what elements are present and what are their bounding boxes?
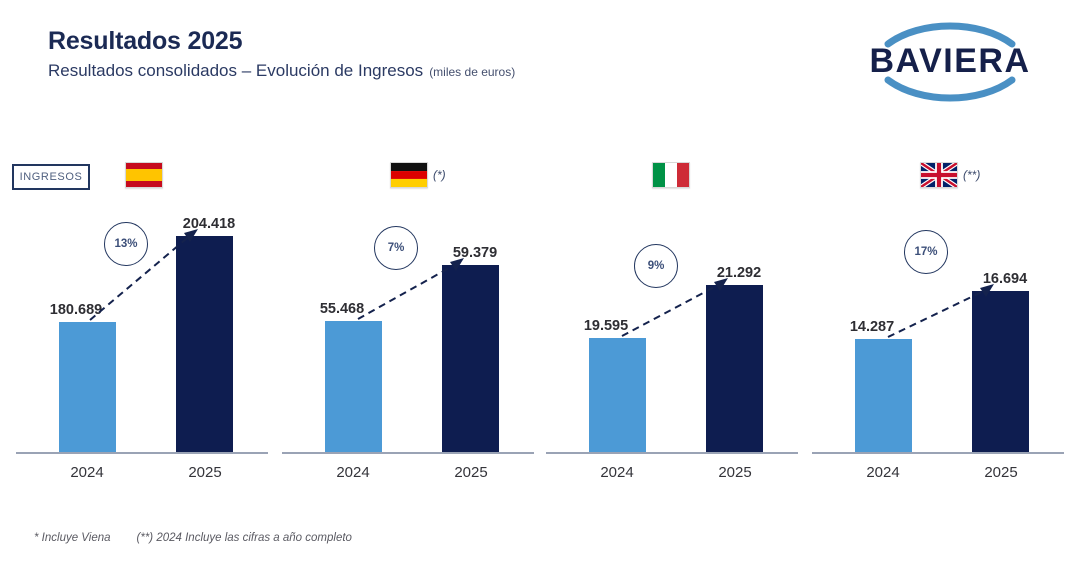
- growth-badge: 17%: [904, 230, 948, 274]
- x-axis-labels: 2024 2025: [282, 464, 534, 488]
- x-axis-labels: 2024 2025: [546, 464, 798, 488]
- x-label-2024: 2024: [600, 464, 633, 481]
- page-header: Resultados 2025 Resultados consolidados …: [48, 28, 515, 81]
- growth-badge: 13%: [104, 222, 148, 266]
- bar-2025: [442, 265, 499, 452]
- footnotes: * Incluye Viena (**) 2024 Incluye las ci…: [34, 532, 352, 544]
- bar-value-2025: 59.379: [453, 245, 497, 261]
- axis-line: [16, 452, 268, 454]
- chart-group-spain: 180.689 204.418 13% 2024 2025: [16, 206, 278, 496]
- bar-value-2024: 14.287: [850, 319, 894, 335]
- axis-line: [546, 452, 798, 454]
- bar-value-2025: 204.418: [183, 216, 235, 232]
- footnote-2: (**) 2024 Incluye las cifras a año compl…: [137, 532, 352, 544]
- flag-slot-uk: (**): [920, 162, 980, 188]
- bar-value-2025: 16.694: [983, 271, 1027, 287]
- chart-area: 180.689 204.418 13% 2024 2025 55.468 59.…: [0, 206, 1080, 496]
- x-label-2025: 2025: [454, 464, 487, 481]
- x-axis-labels: 2024 2025: [16, 464, 268, 488]
- bar-2025: [706, 285, 763, 452]
- footnote-1: * Incluye Viena: [34, 532, 111, 544]
- legend-flags-band: INGRESOS (*): [0, 150, 1080, 206]
- x-label-2024: 2024: [866, 464, 899, 481]
- flag-slot-germany: (*): [390, 162, 446, 188]
- logo-wordmark: BAVIERA: [870, 42, 1031, 80]
- chart-group-germany: 55.468 59.379 7% 2024 2025: [282, 206, 544, 496]
- plot-italy: 19.595 21.292 9%: [546, 206, 808, 454]
- page-subtitle-note: (miles de euros): [429, 65, 515, 79]
- subtitle-row: Resultados consolidados – Evolución de I…: [48, 61, 515, 81]
- bar-2025: [972, 291, 1029, 452]
- flag-note-uk: (**): [963, 168, 980, 182]
- bar-2024: [325, 321, 382, 452]
- chart-group-italy: 19.595 21.292 9% 2024 2025: [546, 206, 808, 496]
- bar-2024: [59, 322, 116, 452]
- flag-slot-italy: [652, 162, 695, 188]
- x-label-2024: 2024: [70, 464, 103, 481]
- bar-value-2025: 21.292: [717, 265, 761, 281]
- bar-value-2024: 55.468: [320, 301, 364, 317]
- germany-flag-icon: [390, 162, 428, 188]
- legend-badge-ingresos: INGRESOS: [12, 164, 90, 190]
- axis-line: [812, 452, 1064, 454]
- bar-value-2024: 180.689: [50, 302, 102, 318]
- bar-2024: [589, 338, 646, 452]
- x-label-2025: 2025: [984, 464, 1017, 481]
- bar-2025: [176, 236, 233, 452]
- page-subtitle: Resultados consolidados – Evolución de I…: [48, 61, 423, 81]
- bar-value-2024: 19.595: [584, 318, 628, 334]
- growth-badge: 9%: [634, 244, 678, 288]
- x-axis-labels: 2024 2025: [812, 464, 1064, 488]
- flag-slot-spain: [125, 162, 168, 188]
- chart-group-uk: 14.287 16.694 17% 2024 2025: [812, 206, 1074, 496]
- plot-germany: 55.468 59.379 7%: [282, 206, 544, 454]
- growth-badge: 7%: [374, 226, 418, 270]
- page-title: Resultados 2025: [48, 28, 515, 56]
- uk-flag-icon: [920, 162, 958, 188]
- italy-flag-icon: [652, 162, 690, 188]
- x-label-2025: 2025: [718, 464, 751, 481]
- plot-spain: 180.689 204.418 13%: [16, 206, 278, 454]
- axis-line: [282, 452, 534, 454]
- flag-note-germany: (*): [433, 168, 446, 182]
- x-label-2024: 2024: [336, 464, 369, 481]
- baviera-logo: BAVIERA: [850, 14, 1050, 110]
- x-label-2025: 2025: [188, 464, 221, 481]
- bar-2024: [855, 339, 912, 452]
- spain-flag-icon: [125, 162, 163, 188]
- plot-uk: 14.287 16.694 17%: [812, 206, 1074, 454]
